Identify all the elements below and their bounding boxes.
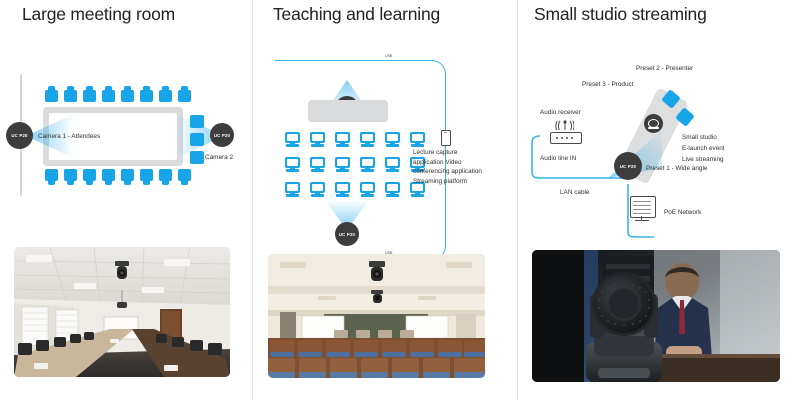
panel-title: Teaching and learning bbox=[273, 4, 440, 25]
diagram-teaching-and-learning: USB USB UC P20 bbox=[253, 36, 517, 241]
badge-uc-p20-camera1: UC P20 bbox=[6, 122, 33, 149]
poe-network-label: PoE Network bbox=[664, 208, 701, 218]
chair-icon bbox=[45, 86, 58, 102]
chair-icon bbox=[45, 169, 58, 185]
preset3-label: Preset 3 - Product bbox=[582, 80, 634, 90]
desk-icon bbox=[360, 157, 375, 172]
platform-line-1: Lecture capture bbox=[413, 148, 482, 158]
diagram-large-meeting-room: UC P20 Camera 1 - Attendees UC P20 Camer… bbox=[0, 36, 252, 241]
ceiling-camera-photo-marker-1 bbox=[369, 261, 385, 281]
panel-title: Small studio streaming bbox=[534, 4, 707, 25]
chair-icon bbox=[83, 169, 96, 185]
chair-icon bbox=[64, 86, 77, 102]
badge-label: UC P20 bbox=[339, 232, 355, 237]
desk-icon bbox=[335, 182, 350, 197]
chair-icon bbox=[102, 86, 115, 102]
badge-uc-p20-camera2: UC P20 bbox=[210, 123, 234, 147]
side-device-1 bbox=[190, 115, 204, 128]
desk-icon bbox=[285, 182, 300, 197]
usecase-line-2: E-launch event bbox=[682, 143, 725, 154]
preset1-label: Preset 1 - Wide angle bbox=[646, 164, 707, 174]
desk-icon bbox=[335, 157, 350, 172]
desk-icon bbox=[310, 182, 325, 197]
platform-line-2: application Video bbox=[413, 158, 482, 168]
desk-icon bbox=[360, 132, 375, 147]
desk-icon bbox=[335, 132, 350, 147]
audio-receiver-label: Audio receiver bbox=[540, 108, 581, 118]
panel-title: Large meeting room bbox=[22, 4, 175, 25]
ptz-camera-photo bbox=[586, 272, 662, 382]
preset2-label: Preset 2 - Presenter bbox=[636, 64, 693, 74]
use-case-infographic: Large meeting room bbox=[0, 0, 800, 400]
chair-icon bbox=[121, 86, 134, 102]
desk-icon bbox=[285, 132, 300, 147]
desk-icon bbox=[410, 132, 425, 147]
desk-icon bbox=[310, 157, 325, 172]
audio-receiver-icon bbox=[550, 132, 582, 144]
chair-icon bbox=[178, 86, 191, 102]
badge-label: UC P20 bbox=[11, 133, 27, 138]
badge-label: UC P20 bbox=[620, 164, 636, 169]
usb-label-top: USB bbox=[385, 54, 392, 60]
badge-uc-p20-studio: UC P20 bbox=[614, 152, 642, 180]
mobile-device-icon bbox=[441, 130, 451, 146]
side-device-2 bbox=[190, 133, 204, 146]
panel-small-studio-streaming: Small studio streaming Preset 2 - Presen… bbox=[517, 0, 800, 400]
diagram-small-studio-streaming: Preset 2 - Presenter Preset 3 - Product … bbox=[518, 36, 800, 241]
chair-icon bbox=[83, 86, 96, 102]
presenter-target-icon bbox=[644, 114, 663, 133]
chair-icon bbox=[64, 169, 77, 185]
lan-cable-label: LAN cable bbox=[560, 188, 590, 198]
desk-icon bbox=[385, 132, 400, 147]
badge-uc-p20-bottom: UC P20 bbox=[335, 222, 359, 246]
camera2-label: Camera 2 bbox=[205, 153, 233, 163]
desk-icon bbox=[310, 132, 325, 147]
poe-network-icon bbox=[630, 196, 654, 222]
audio-line-in-label: Audio line IN bbox=[540, 154, 576, 164]
photo-studio-camera bbox=[532, 250, 780, 382]
chair-icon bbox=[178, 169, 191, 185]
usecase-line-1: Small studio bbox=[682, 132, 725, 143]
chair-icon bbox=[102, 169, 115, 185]
photo-lecture-hall bbox=[268, 254, 485, 378]
chair-icon bbox=[140, 86, 153, 102]
desk-icon bbox=[385, 182, 400, 197]
chair-icon bbox=[140, 169, 153, 185]
chair-icon bbox=[159, 169, 172, 185]
desk-icon bbox=[285, 157, 300, 172]
camera1-label: Camera 1 - Attendees bbox=[38, 132, 100, 142]
side-device-3 bbox=[190, 151, 204, 164]
platform-line-3: conferencing application bbox=[413, 167, 482, 177]
platform-line-4: Streaming platform bbox=[413, 177, 482, 187]
badge-label: UC P20 bbox=[214, 133, 230, 138]
desk-icon bbox=[360, 182, 375, 197]
panel-large-meeting-room: Large meeting room bbox=[0, 0, 252, 400]
wifi-waves-icon bbox=[552, 118, 574, 130]
usecase-text-block: Small studio E-launch event Live streami… bbox=[682, 132, 725, 165]
chair-icon bbox=[159, 86, 172, 102]
platform-text-block: Lecture capture application Video confer… bbox=[413, 148, 482, 186]
chair-icon bbox=[121, 169, 134, 185]
lectern-surface bbox=[308, 100, 388, 122]
usecase-line-3: Live streaming bbox=[682, 154, 725, 165]
photo-large-meeting-room bbox=[14, 247, 230, 377]
panel-teaching-and-learning: Teaching and learning USB USB UC P20 bbox=[252, 0, 517, 400]
desk-icon bbox=[385, 157, 400, 172]
